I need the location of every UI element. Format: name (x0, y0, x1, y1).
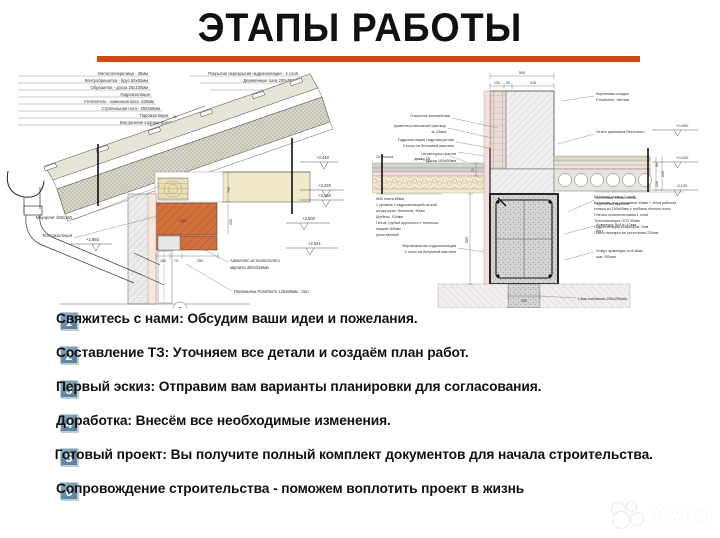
svg-text:доска 25: доска 25 (414, 156, 430, 161)
list-item: 2 Составление ТЗ: Уточняем все детали и … (0, 344, 720, 366)
svg-text:+3,440: +3,440 (316, 155, 330, 160)
svg-text:Щебень, 100мм: Щебень, 100мм (376, 215, 403, 219)
svg-text:20: 20 (506, 81, 510, 85)
svg-text:Отмостка железнёная: Отмостка железнёная (410, 113, 450, 118)
roof-eave-section-drawing: Металлочерепица - 30мм Контробрешетка - … (0, 66, 372, 308)
svg-text:Пароизоляция: Пароизоляция (140, 113, 168, 118)
svg-text:2 слоя на битумной мастике: 2 слоя на битумной мастике (405, 249, 456, 254)
steps-list: 1 Свяжитесь с нами: Обсудим ваши идеи и … (0, 310, 720, 508)
svg-text:Porotherm, тёплая: Porotherm, тёплая (596, 97, 629, 102)
list-item: 4 Доработка: Внесём все необходимые изме… (0, 412, 720, 434)
svg-text:-0,120: -0,120 (676, 183, 688, 188)
svg-text:+3,150: +3,150 (318, 193, 332, 198)
svg-text:ляцией 300мм: ляцией 300мм (376, 227, 401, 231)
svg-text:Доска 100х50мм: Доска 100х50мм (426, 158, 456, 163)
wall-floor-junction-drawing: 500 120 20 416 (372, 66, 720, 308)
svg-text:220: 220 (655, 181, 659, 187)
svg-text:Металлочерепица - 30мм: Металлочерепица - 30мм (98, 71, 148, 76)
page-title: ЭТАПЫ РАБОТЫ (22, 6, 699, 50)
svg-text:Обрешетка - доска 25х100мм: Обрешетка - доска 25х100мм (90, 85, 148, 90)
list-item: 3 Первый эскиз: Отправим вам варианты пл… (0, 378, 720, 400)
technical-drawings-band: Металлочерепица - 30мм Контробрешетка - … (0, 66, 720, 308)
page-title-block: ЭТАПЫ РАБОТЫ (0, 6, 720, 50)
svg-text:Бетонная стяжка 1 слой: Бетонная стяжка 1 слой (594, 195, 635, 199)
svg-text:Цементно-песчаный раствор: Цементно-песчаный раствор (394, 123, 446, 128)
svg-text:штукатурка, бетонная, 50мм: штукатурка, бетонная, 50мм (376, 209, 425, 213)
svg-text:700: 700 (227, 187, 231, 193)
svg-text:Плёнка полиэтиленовая 1 слой: Плёнка полиэтиленовая 1 слой (594, 213, 648, 217)
svg-text:416: 416 (530, 81, 536, 85)
svg-text:Л: Л (178, 307, 181, 308)
svg-text:Гидроизоляция гидрозащитная: Гидроизоляция гидрозащитная (398, 137, 454, 142)
step-text-6: Сопровождение строительства - поможем во… (56, 480, 687, 499)
svg-text:Плита перекрытия пустотелая 22: Плита перекрытия пустотелая 220мм (594, 231, 659, 235)
svg-text:2 слоя на битумной мастике: 2 слоя на битумной мастике (403, 143, 454, 148)
svg-text:шаг 200мм: шаг 200мм (596, 254, 616, 259)
svg-text:70: 70 (174, 259, 178, 263)
svg-text:Армопояс из полнотелого: Армопояс из полнотелого (230, 258, 281, 263)
step-text-3: Первый эскиз: Отправим вам варианты план… (56, 378, 687, 397)
svg-text:+3,225: +3,225 (318, 183, 332, 188)
svg-text:+2,921: +2,921 (308, 241, 322, 246)
svg-text:120: 120 (494, 81, 500, 85)
svg-text:60: 60 (655, 163, 659, 167)
list-item: 5 Готовый проект: Вы получите полный ком… (0, 446, 720, 468)
list-item: 6 Сопровождение строительства - поможем … (0, 480, 720, 502)
svg-text:стяжка из 150х50мм с трубами т: стяжка из 150х50мм с трубами тёплого пол… (594, 207, 671, 211)
slide-root: ЭТАПЫ РАБОТЫ (0, 0, 720, 538)
svg-text:Хомут арматуры d=6-8мм: Хомут арматуры d=6-8мм (596, 248, 643, 253)
svg-text:Вертикальная гидроизоляция: Вертикальная гидроизоляция (402, 243, 456, 248)
svg-text:+3,000: +3,000 (302, 216, 316, 221)
svg-text:380: 380 (180, 218, 187, 223)
svg-text:Теплоизоляция ППС 50мм: Теплоизоляция ППС 50мм (594, 219, 640, 223)
svg-text:150: 150 (160, 259, 166, 263)
list-item: 1 Свяжитесь с нами: Обсудим ваши идеи и … (0, 310, 720, 332)
step-text-1: Свяжитесь с нами: Обсудим ваши идеи и по… (56, 310, 687, 329)
svg-text:15°: 15° (172, 114, 178, 119)
svg-text:уплотнённый: уплотнённый (376, 233, 399, 237)
svg-text:Утеплитель - каменная вата -20: Утеплитель - каменная вата -200мм (84, 99, 154, 104)
svg-text:Гидроизоляция Бикрокров, 2мм: Гидроизоляция Бикрокров, 2мм (594, 225, 649, 229)
svg-text:+0,030: +0,030 (676, 155, 689, 160)
step-text-5: Готовый проект: Вы получите полный компл… (14, 446, 685, 465)
svg-text:Бетонная, под основание 40мм +: Бетонная, под основание 40мм + сетка раб… (594, 201, 676, 205)
step-text-2: Составление ТЗ: Уточняем все детали и со… (56, 344, 687, 363)
svg-text:Контробрешетка - брус 50х50мм: Контробрешетка - брус 50х50мм (85, 78, 148, 83)
svg-text:500: 500 (519, 71, 525, 75)
svg-text:+0,450: +0,450 (676, 123, 689, 128)
svg-text:+2,860: +2,860 (86, 237, 100, 242)
svg-text:Свая набивная 250х250мм: Свая набивная 250х250мм (578, 296, 627, 301)
svg-text:70: 70 (471, 168, 475, 172)
svg-text:Лента армпояса бетонного: Лента армпояса бетонного (596, 129, 645, 134)
title-underline-rule (97, 56, 640, 62)
svg-text:220: 220 (661, 171, 665, 177)
svg-text:Покрытие перекрытия гидроизоля: Покрытие перекрытия гидроизоляция - 4 сл… (208, 71, 298, 76)
svg-text:Кирпичная кладка: Кирпичная кладка (596, 91, 630, 96)
svg-text:Песок, грубый крупности с тепл: Песок, грубый крупности с теплоизо- (376, 221, 440, 225)
svg-text:Ж/Б плита 80мм: Ж/Б плита 80мм (376, 197, 404, 201)
svg-text:Отмостка: Отмостка (376, 154, 394, 159)
svg-text:1 уровень с гидроизоляцией сет: 1 уровень с гидроизоляцией сеткой (376, 203, 437, 207)
svg-text:225: 225 (229, 219, 233, 225)
svg-text:Стропильная нога - 200х50мм: Стропильная нога - 200х50мм (101, 106, 160, 111)
svg-text:Мауэрлат 150х150: Мауэрлат 150х150 (36, 215, 73, 220)
svg-text:Гидроизоляция: Гидроизоляция (120, 92, 150, 97)
svg-text:250: 250 (197, 259, 203, 263)
svg-text:м. 25мм: м. 25мм (431, 129, 446, 134)
svg-text:Теплоизоляция: Теплоизоляция (42, 233, 72, 238)
svg-text:кирпича 380х225мм: кирпича 380х225мм (230, 265, 269, 270)
svg-text:800: 800 (465, 237, 469, 243)
svg-text:200: 200 (521, 299, 527, 303)
svg-text:Перемычка Porotherm 120х65мм -: Перемычка Porotherm 120х65мм - 3шт. (234, 289, 310, 294)
step-text-4: Доработка: Внесём все необходимые измене… (56, 412, 687, 431)
